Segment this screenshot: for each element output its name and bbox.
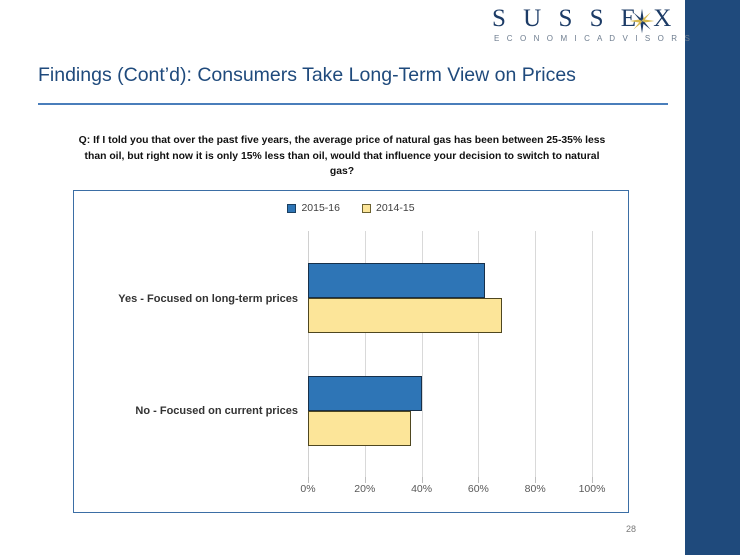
right-decorative-band xyxy=(685,0,740,555)
sussex-logo: S U S S E X E C O N O M I C A D V I S O … xyxy=(492,6,657,50)
gridline-80 xyxy=(535,231,536,477)
logo-tagline: E C O N O M I C A D V I S O R S xyxy=(494,33,657,45)
legend-swatch-icon-2014-15 xyxy=(362,204,371,213)
bar-2014-15-yes[interactable] xyxy=(308,298,502,333)
x-axis-ticks: 0% 20% 40% 60% 80% 100% xyxy=(308,483,593,501)
legend-label-series-1: 2014-15 xyxy=(376,202,415,214)
x-tick-label-100: 100% xyxy=(579,483,606,495)
legend-swatch-icon-2015-16 xyxy=(287,204,296,213)
x-tick-label-80: 80% xyxy=(525,483,546,495)
slide: S U S S E X E C O N O M I C A D V I S O … xyxy=(0,0,740,555)
x-tick-label-40: 40% xyxy=(411,483,432,495)
plot-area xyxy=(308,231,593,477)
chart-legend: 2015-16 2014-15 xyxy=(74,202,628,214)
chart-container: 2015-16 2014-15 Yes - Focused on long-te… xyxy=(73,190,629,513)
gridline-100 xyxy=(592,231,593,477)
category-label-0: Yes - Focused on long-term prices xyxy=(76,293,298,305)
legend-item-series-0: 2015-16 xyxy=(287,202,340,214)
x-tick-label-0: 0% xyxy=(300,483,315,495)
survey-question: Q: If I told you that over the past five… xyxy=(72,133,612,180)
title-divider xyxy=(38,103,668,105)
page-number: 28 xyxy=(626,524,636,534)
x-tick-label-20: 20% xyxy=(354,483,375,495)
category-label-1: No - Focused on current prices xyxy=(76,405,298,417)
x-tick-label-60: 60% xyxy=(468,483,489,495)
bar-2015-16-yes[interactable] xyxy=(308,263,485,298)
page-title: Findings (Cont’d): Consumers Take Long-T… xyxy=(38,62,668,88)
bar-2015-16-no[interactable] xyxy=(308,376,422,411)
bar-2014-15-no[interactable] xyxy=(308,411,411,446)
legend-label-series-0: 2015-16 xyxy=(301,202,340,214)
starburst-icon xyxy=(629,8,655,34)
legend-item-series-1: 2014-15 xyxy=(362,202,415,214)
